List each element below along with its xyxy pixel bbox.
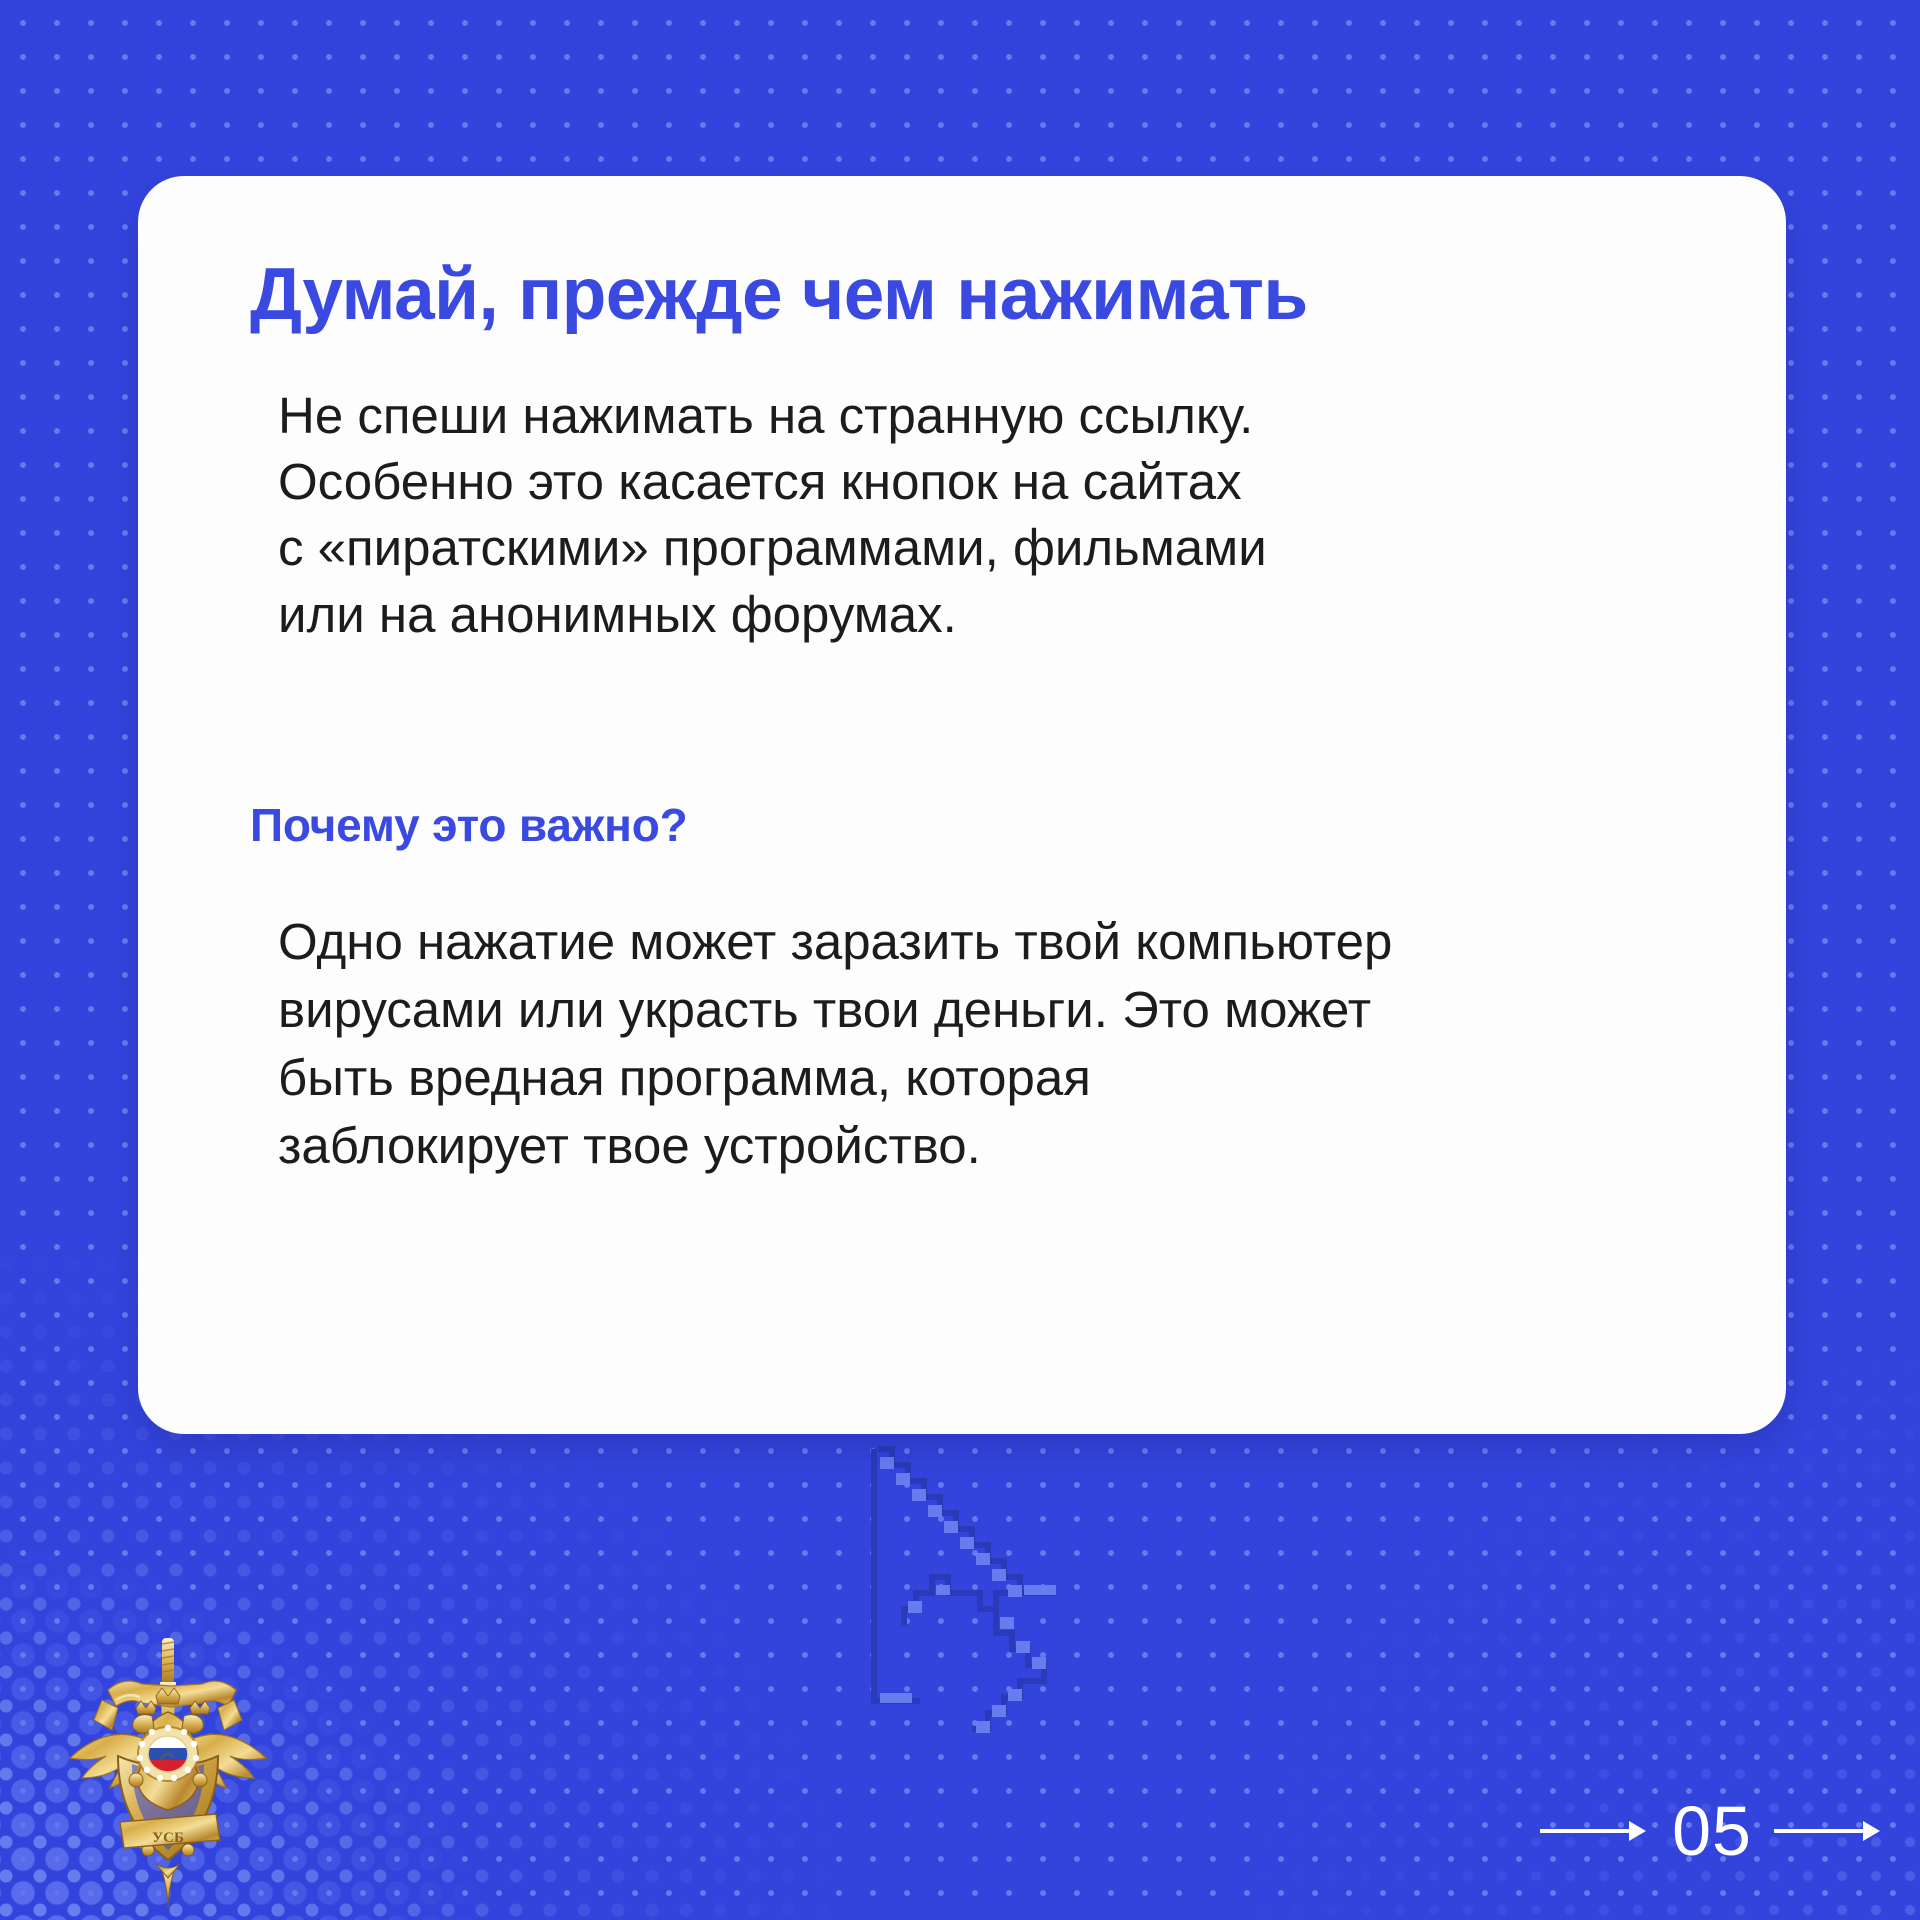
intro-line: или на анонимных форумах. bbox=[278, 582, 1598, 648]
body-line: заблокирует твое устройство. bbox=[278, 1112, 1678, 1180]
section-subtitle: Почему это важно? bbox=[250, 798, 1716, 852]
intro-line: Особенно это касается кнопок на сайтах bbox=[278, 449, 1598, 515]
content-card: Думай, прежде чем нажимать Не спеши нажи… bbox=[138, 176, 1786, 1434]
body-line: быть вредная программа, которая bbox=[278, 1044, 1678, 1112]
intro-paragraph: Не спеши нажимать на странную ссылку. Ос… bbox=[278, 383, 1598, 648]
page-number: 05 bbox=[1650, 1796, 1774, 1866]
intro-line: Не спеши нажимать на странную ссылку. bbox=[278, 383, 1598, 449]
arrow-right-icon[interactable] bbox=[1774, 1820, 1884, 1842]
page-indicator: 05 bbox=[1540, 1794, 1884, 1868]
body-line: вирусами или украсть твои деньги. Это мо… bbox=[278, 976, 1678, 1044]
page-title: Думай, прежде чем нажимать bbox=[250, 256, 1716, 335]
intro-line: с «пиратскими» программами, фильмами bbox=[278, 515, 1598, 581]
fsb-usb-emblem-icon: УСБ bbox=[62, 1638, 274, 1910]
emblem-ribbon-text: УСБ bbox=[152, 1830, 184, 1846]
body-paragraph: Одно нажатие может заразить твой компьют… bbox=[278, 908, 1678, 1179]
body-line: Одно нажатие может заразить твой компьют… bbox=[278, 908, 1678, 976]
arrow-right-icon[interactable] bbox=[1540, 1820, 1650, 1842]
